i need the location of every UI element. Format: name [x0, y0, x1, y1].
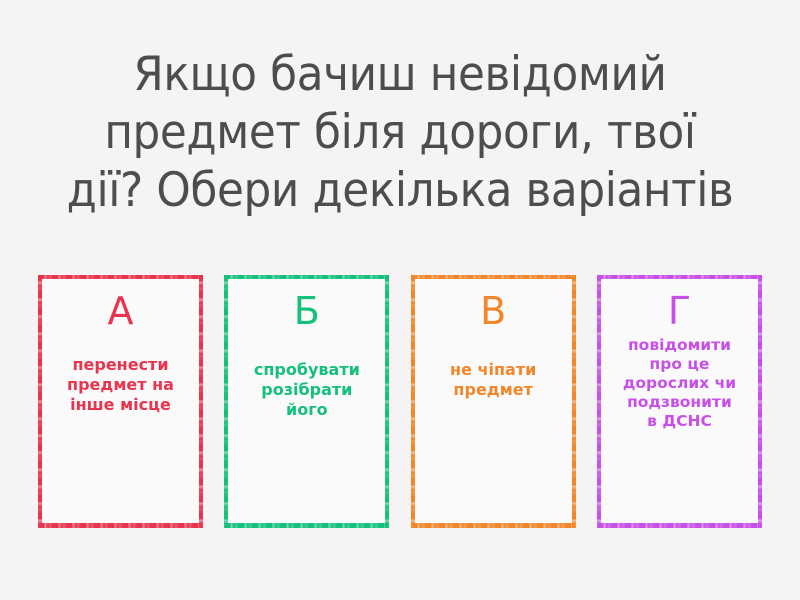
answer-letter-d: Г: [668, 292, 691, 330]
answer-text-b: спробувати розібрати його: [245, 360, 369, 420]
quiz-slide: Якщо бачиш невідомий предмет біля дороги…: [0, 0, 800, 600]
answer-letter-c: В: [480, 292, 506, 330]
page-title: Якщо бачиш невідомий предмет біля дороги…: [28, 46, 772, 220]
answer-text-d: повідомити про це дорослих чи подзвонити…: [614, 336, 745, 431]
answer-options-row: А перенести предмет на інше місце Б спро…: [38, 275, 762, 528]
answer-card-c[interactable]: В не чіпати предмет: [411, 275, 576, 528]
answer-card-a[interactable]: А перенести предмет на інше місце: [38, 275, 203, 528]
answer-letter-a: А: [108, 292, 134, 330]
answer-text-c: не чіпати предмет: [441, 360, 545, 400]
answer-letter-b: Б: [294, 292, 320, 330]
answer-card-d[interactable]: Г повідомити про це дорослих чи подзвони…: [597, 275, 762, 528]
answer-text-a: перенести предмет на інше місце: [58, 355, 183, 415]
answer-card-b[interactable]: Б спробувати розібрати його: [224, 275, 389, 528]
